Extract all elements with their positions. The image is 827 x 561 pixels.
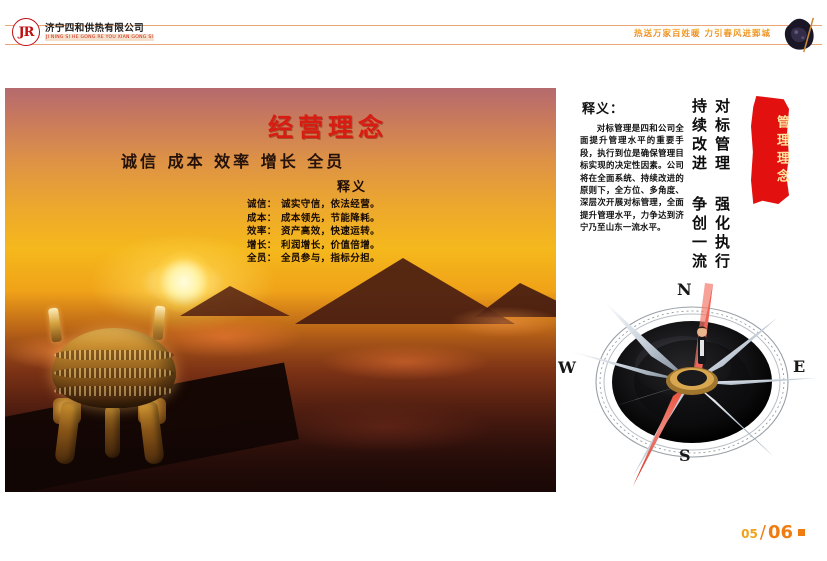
logo-text-group: 济宁四和供热有限公司 JI NING SI HE GONG RE YOU XIA… — [45, 23, 154, 41]
vertical-slogan-group: 持续改进 争创一流 对标管理 强化执行 — [688, 98, 732, 272]
explain-key: 成本： — [247, 212, 281, 226]
logo-monogram-icon: JR — [12, 18, 40, 46]
compass-north-label: N — [677, 280, 692, 299]
ink-blot-icon — [781, 14, 819, 54]
right-panel-heading: 释义： — [582, 98, 624, 117]
company-name-cn: 济宁四和供热有限公司 — [45, 23, 154, 34]
poster-explain-heading: 释义 — [337, 176, 367, 195]
ding-pattern-band — [54, 368, 174, 378]
list-item: 效率：资产高效，快速运转。 — [247, 225, 380, 239]
hero-photo: 经营理念 诚信 成本 效率 增长 全员 释义 诚信：诚实守信，依法经营。 成本：… — [5, 88, 556, 492]
brochure-page: JR 济宁四和供热有限公司 JI NING SI HE GONG RE YOU … — [0, 0, 827, 561]
header-slogan: 热送万家百姓暖 力引春风进鄄城 — [634, 27, 771, 39]
explain-key: 全员： — [247, 252, 281, 266]
compass-west-label: W — [558, 358, 576, 377]
right-text-panel: 释义： 对标管理是四和公司全面提升管理水平的重要手段，执行到位是确保管理目标实现… — [575, 96, 821, 296]
explain-text: 资产高效，快速运转。 — [281, 226, 380, 237]
explain-text: 全员参与，指标分担。 — [281, 253, 380, 264]
explain-key: 效率： — [247, 225, 281, 239]
management-seal-text: 管理理念 — [751, 104, 789, 198]
list-item: 全员：全员参与，指标分担。 — [247, 252, 380, 266]
bronze-ding-vessel-icon — [30, 306, 195, 471]
poster-explain-list: 诚信：诚实守信，依法经营。 成本：成本领先，节能降耗。 效率：资产高效，快速运转… — [247, 198, 380, 266]
page-header: JR 济宁四和供热有限公司 JI NING SI HE GONG RE YOU … — [0, 0, 827, 62]
poster-values-line: 诚信 成本 效率 增长 全员 — [121, 148, 345, 172]
vertical-slogan-right: 对标管理 强化执行 — [711, 98, 732, 272]
explain-key: 诚信： — [247, 198, 281, 212]
explain-text: 利润增长，价值倍增。 — [281, 240, 380, 251]
list-item: 增长：利润增长，价值倍增。 — [247, 239, 380, 253]
right-panel-paragraph: 对标管理是四和公司全面提升管理水平的重要手段，执行到位是确保管理目标实现的决定性… — [580, 122, 684, 234]
page-marker-icon — [798, 529, 805, 536]
company-logo: JR 济宁四和供热有限公司 JI NING SI HE GONG RE YOU … — [12, 18, 154, 46]
ding-leg-center — [105, 406, 120, 458]
ding-pattern-band — [54, 350, 174, 360]
company-name-en: JI NING SI HE GONG RE YOU XIAN GONG SI — [45, 34, 154, 41]
ding-pattern-band — [54, 386, 174, 396]
businessman-figure-icon — [697, 327, 707, 365]
page-number: 05 / 06 — [741, 522, 805, 543]
ding-handle-right — [153, 306, 166, 341]
page-current: 05 — [741, 527, 758, 541]
poster-title: 经营理念 — [268, 108, 388, 144]
compass-graphic: N S W E — [555, 278, 825, 493]
explain-text: 诚实守信，依法经营。 — [281, 199, 380, 210]
compass-south-label: S — [679, 446, 691, 465]
explain-key: 增长： — [247, 239, 281, 253]
page-separator: / — [760, 522, 766, 543]
ding-handle-left — [48, 308, 62, 343]
explain-text: 成本领先，节能降耗。 — [281, 213, 380, 224]
page-total: 06 — [768, 522, 793, 543]
list-item: 诚信：诚实守信，依法经营。 — [247, 198, 380, 212]
list-item: 成本：成本领先，节能降耗。 — [247, 212, 380, 226]
vertical-slogan-left: 持续改进 争创一流 — [688, 98, 709, 272]
compass-east-label: E — [793, 357, 805, 376]
